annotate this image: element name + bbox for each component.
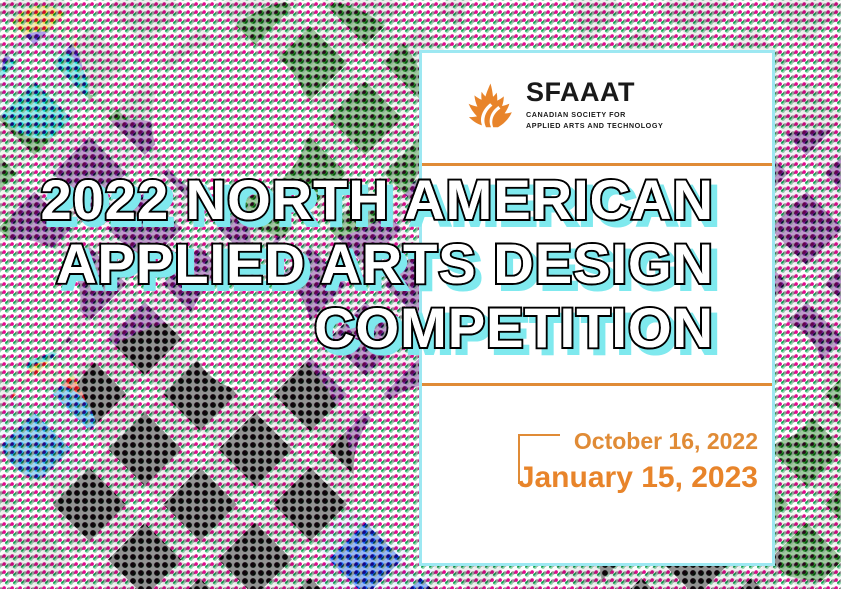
date-range: October 16, 2022 January 15, 2023 xyxy=(422,428,772,495)
headline-line-3: COMPETITION xyxy=(0,296,714,360)
start-date-row: October 16, 2022 xyxy=(422,428,772,455)
logo-subtitle-line-2: APPLIED ARTS AND TECHNOLOGY xyxy=(526,121,663,132)
headline-line-1-stack: 2022 NORTH AMERICAN 2022 NORTH AMERICAN … xyxy=(0,168,714,232)
headline-line-1: 2022 NORTH AMERICAN xyxy=(0,168,714,232)
divider-rule-bottom xyxy=(422,383,772,386)
start-date: October 16, 2022 xyxy=(574,428,758,455)
logo-wordmark: SFAAAT CANADIAN SOCIETY FOR APPLIED ARTS… xyxy=(526,79,663,132)
headline-line-2-stack: APPLIED ARTS DESIGN APPLIED ARTS DESIGN … xyxy=(0,232,714,296)
date-bracket-icon xyxy=(518,434,560,484)
logo-title: SFAAAT xyxy=(526,79,663,106)
poster-headline: 2022 NORTH AMERICAN 2022 NORTH AMERICAN … xyxy=(0,168,780,360)
logo-subtitle-line-1: CANADIAN SOCIETY FOR xyxy=(526,110,663,121)
poster-canvas: SFAAAT CANADIAN SOCIETY FOR APPLIED ARTS… xyxy=(0,0,841,589)
headline-line-2: APPLIED ARTS DESIGN xyxy=(0,232,714,296)
organization-logo: SFAAAT CANADIAN SOCIETY FOR APPLIED ARTS… xyxy=(444,53,750,132)
maple-leaf-icon xyxy=(466,82,516,128)
divider-rule-top xyxy=(422,163,772,166)
headline-line-3-stack: COMPETITION COMPETITION COMPETITION xyxy=(0,296,714,360)
end-date: January 15, 2023 xyxy=(422,461,772,495)
logo-subtitle: CANADIAN SOCIETY FOR APPLIED ARTS AND TE… xyxy=(526,110,663,132)
